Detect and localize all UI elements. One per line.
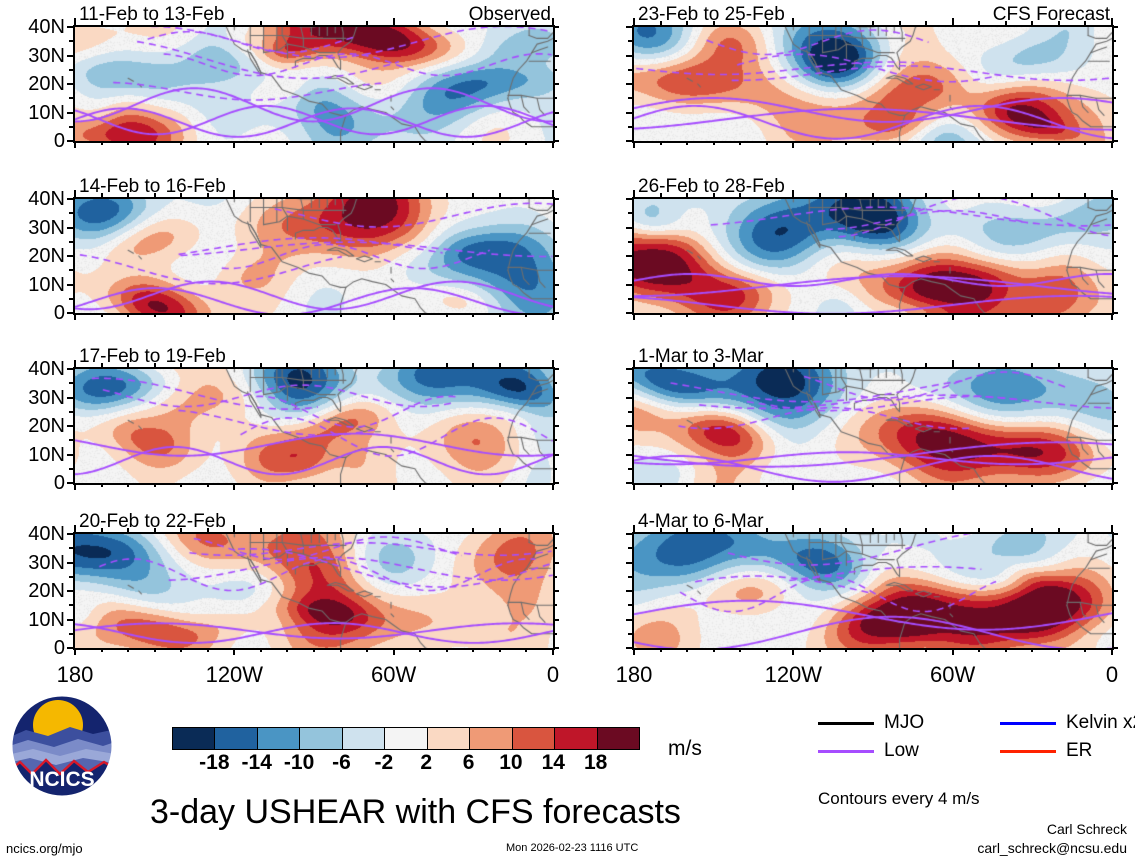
x-tick-mark [233,360,235,367]
x-minor-tick [260,193,262,197]
x-minor-tick [525,483,527,487]
y-minor-tick [628,468,632,470]
y-tick-label: 20N [0,581,65,601]
x-minor-tick [872,648,874,652]
x-tick-mark [1111,141,1113,148]
x-minor-tick [180,193,182,197]
y-minor-tick [69,604,73,606]
y-tick-mark [553,284,559,286]
x-tick-mark [792,313,794,320]
y-minor-tick [553,547,557,549]
x-minor-tick [446,193,448,197]
y-minor-tick [1112,576,1116,578]
y-minor-tick [69,298,73,300]
y-tick-mark [67,83,73,85]
legend-line-mjo [818,722,874,725]
x-minor-tick [446,313,448,317]
x-minor-tick [766,141,768,145]
y-tick-mark [1112,227,1118,229]
y-tick-mark [1112,83,1118,85]
site-url[interactable]: ncics.org/mjo [6,842,83,855]
y-minor-tick [69,40,73,42]
y-tick-mark [67,454,73,456]
y-tick-mark [1112,425,1118,427]
x-minor-tick [525,363,527,367]
x-tick-mark [393,190,395,197]
x-tick-mark [952,190,954,197]
y-minor-tick [69,241,73,243]
x-minor-tick [207,363,209,367]
y-minor-tick [553,382,557,384]
y-minor-tick [1112,126,1116,128]
map-canvas-1 [75,199,553,313]
x-minor-tick [899,313,901,317]
x-minor-tick [472,483,474,487]
x-minor-tick [207,141,209,145]
y-tick-mark [626,647,632,649]
x-minor-tick [1031,363,1033,367]
x-minor-tick [419,313,421,317]
map-panel-4 [632,25,1114,143]
x-minor-tick [101,141,103,145]
map-panel-2 [73,367,555,485]
colorbar-swatch-4 [343,728,385,749]
x-minor-tick [819,313,821,317]
y-tick-mark [626,482,632,484]
y-tick-mark [67,112,73,114]
y-minor-tick [69,126,73,128]
column-header-0: Observed [469,5,551,24]
x-minor-tick [340,141,342,145]
map-canvas-6 [634,369,1112,483]
y-tick-label: 30N [0,46,65,66]
y-minor-tick [1112,298,1116,300]
y-tick-mark [1112,112,1118,114]
x-minor-tick [180,648,182,652]
x-tick-mark [233,313,235,320]
y-tick-mark [626,533,632,535]
x-minor-tick [366,193,368,197]
y-tick-mark [553,562,559,564]
x-minor-tick [660,141,662,145]
y-tick-mark [553,112,559,114]
x-minor-tick [499,193,501,197]
colorbar-swatch-8 [513,728,555,749]
y-minor-tick [69,576,73,578]
legend-label-0: MJO [884,713,924,732]
x-minor-tick [472,648,474,652]
x-minor-tick [1058,648,1060,652]
colorbar-tick-label: -18 [199,752,229,773]
x-minor-tick [660,21,662,25]
colorbar-swatch-0 [173,728,215,749]
x-minor-tick [899,648,901,652]
x-minor-tick [472,21,474,25]
x-minor-tick [766,21,768,25]
x-tick-label: 180 [57,664,94,686]
x-minor-tick [180,313,182,317]
y-tick-mark [1112,619,1118,621]
x-minor-tick [260,313,262,317]
x-tick-mark [233,525,235,532]
x-minor-tick [766,483,768,487]
x-minor-tick [472,313,474,317]
y-tick-mark [553,55,559,57]
x-tick-label: 60W [371,664,416,686]
y-minor-tick [628,382,632,384]
y-minor-tick [69,411,73,413]
x-tick-mark [74,648,76,655]
y-minor-tick [553,97,557,99]
x-minor-tick [207,483,209,487]
x-minor-tick [446,483,448,487]
x-minor-tick [260,648,262,652]
y-tick-label: 0 [0,303,65,323]
x-minor-tick [1031,193,1033,197]
x-tick-mark [952,525,954,532]
x-tick-mark [552,18,554,25]
y-tick-mark [1112,26,1118,28]
y-minor-tick [628,241,632,243]
y-minor-tick [553,69,557,71]
panel-title-6: 1-Mar to 3-Mar [638,347,764,366]
y-minor-tick [69,97,73,99]
x-minor-tick [739,483,741,487]
y-tick-mark [1112,198,1118,200]
y-tick-mark [553,255,559,257]
x-tick-mark [74,190,76,197]
x-tick-mark [1111,483,1113,490]
y-tick-mark [553,26,559,28]
legend-label-3: ER [1066,741,1092,760]
y-minor-tick [628,547,632,549]
y-tick-mark [1112,284,1118,286]
x-minor-tick [313,528,315,532]
x-minor-tick [154,363,156,367]
x-minor-tick [713,313,715,317]
x-minor-tick [313,141,315,145]
x-tick-mark [792,483,794,490]
x-tick-label: 120W [206,664,263,686]
x-minor-tick [446,21,448,25]
x-minor-tick [1084,21,1086,25]
x-minor-tick [499,363,501,367]
x-minor-tick [925,193,927,197]
x-minor-tick [1084,528,1086,532]
y-minor-tick [553,298,557,300]
x-minor-tick [1058,141,1060,145]
x-tick-mark [233,141,235,148]
x-minor-tick [446,528,448,532]
x-minor-tick [286,193,288,197]
contour-interval-note: Contours every 4 m/s [818,790,980,807]
x-minor-tick [739,363,741,367]
y-minor-tick [69,468,73,470]
x-minor-tick [713,528,715,532]
y-minor-tick [69,439,73,441]
y-tick-mark [553,397,559,399]
y-tick-mark [626,312,632,314]
x-minor-tick [260,483,262,487]
x-minor-tick [154,648,156,652]
x-minor-tick [1005,648,1007,652]
y-tick-label: 40N [0,189,65,209]
x-minor-tick [419,648,421,652]
y-tick-mark [1112,55,1118,57]
x-tick-mark [633,313,635,320]
y-tick-mark [67,368,73,370]
x-minor-tick [101,648,103,652]
x-minor-tick [872,193,874,197]
x-minor-tick [340,528,342,532]
x-tick-mark [792,648,794,655]
y-tick-mark [1112,255,1118,257]
x-minor-tick [660,648,662,652]
x-minor-tick [340,193,342,197]
x-minor-tick [686,313,688,317]
x-tick-mark [952,483,954,490]
legend-line-er [1000,750,1056,753]
x-minor-tick [446,363,448,367]
y-tick-label: 10N [0,610,65,630]
x-tick-label: 120W [765,664,822,686]
x-minor-tick [366,313,368,317]
x-minor-tick [127,193,129,197]
y-minor-tick [1112,212,1116,214]
x-minor-tick [1005,21,1007,25]
x-minor-tick [446,648,448,652]
x-minor-tick [1058,193,1060,197]
y-minor-tick [553,212,557,214]
x-minor-tick [845,313,847,317]
x-minor-tick [101,528,103,532]
x-minor-tick [925,483,927,487]
y-tick-mark [67,647,73,649]
y-minor-tick [553,633,557,635]
x-minor-tick [313,363,315,367]
x-minor-tick [286,648,288,652]
x-minor-tick [1058,313,1060,317]
y-minor-tick [628,40,632,42]
x-minor-tick [1058,483,1060,487]
x-tick-mark [633,360,635,367]
x-minor-tick [925,21,927,25]
y-tick-mark [626,83,632,85]
x-minor-tick [766,648,768,652]
colorbar-swatch-5 [385,728,427,749]
y-tick-mark [626,397,632,399]
x-minor-tick [899,483,901,487]
colorbar-swatch-2 [258,728,300,749]
y-tick-mark [553,198,559,200]
y-tick-label: 10N [0,275,65,295]
x-tick-mark [1111,313,1113,320]
x-tick-mark [792,360,794,367]
y-tick-mark [67,482,73,484]
x-minor-tick [180,363,182,367]
x-minor-tick [978,21,980,25]
y-tick-mark [1112,562,1118,564]
x-minor-tick [313,21,315,25]
y-tick-label: 10N [0,445,65,465]
y-tick-mark [626,55,632,57]
x-tick-mark [1111,190,1113,197]
y-tick-mark [626,368,632,370]
author-email[interactable]: carl_schreck@ncsu.edu [977,841,1127,855]
x-minor-tick [154,141,156,145]
x-tick-mark [633,483,635,490]
map-panel-5 [632,197,1114,315]
x-tick-mark [393,313,395,320]
y-tick-mark [1112,590,1118,592]
x-minor-tick [286,21,288,25]
y-tick-mark [67,533,73,535]
x-minor-tick [180,141,182,145]
x-minor-tick [419,21,421,25]
y-tick-mark [553,227,559,229]
x-tick-mark [633,525,635,532]
x-tick-mark [552,360,554,367]
x-minor-tick [819,21,821,25]
x-minor-tick [978,141,980,145]
map-panel-7 [632,532,1114,650]
x-minor-tick [419,528,421,532]
x-minor-tick [127,483,129,487]
x-minor-tick [154,313,156,317]
timestamp: Mon 2026-02-23 1116 UTC [506,843,638,854]
map-canvas-4 [634,27,1112,141]
x-minor-tick [499,21,501,25]
x-minor-tick [286,528,288,532]
x-minor-tick [872,141,874,145]
x-minor-tick [686,21,688,25]
y-minor-tick [553,604,557,606]
x-minor-tick [180,528,182,532]
x-minor-tick [525,141,527,145]
y-tick-mark [626,619,632,621]
y-tick-mark [553,533,559,535]
x-tick-mark [74,18,76,25]
x-minor-tick [872,483,874,487]
x-minor-tick [1005,483,1007,487]
x-minor-tick [419,483,421,487]
x-tick-label: 0 [1106,664,1118,686]
x-minor-tick [713,21,715,25]
x-minor-tick [713,648,715,652]
x-minor-tick [1031,141,1033,145]
x-minor-tick [1058,528,1060,532]
x-minor-tick [340,648,342,652]
y-tick-mark [67,312,73,314]
x-minor-tick [686,528,688,532]
y-tick-mark [1112,368,1118,370]
x-minor-tick [127,141,129,145]
x-minor-tick [499,528,501,532]
x-minor-tick [819,528,821,532]
legend-line-low [818,750,874,753]
x-minor-tick [366,363,368,367]
x-minor-tick [1058,21,1060,25]
x-minor-tick [472,141,474,145]
x-minor-tick [925,528,927,532]
x-minor-tick [525,21,527,25]
x-tick-mark [74,313,76,320]
y-tick-label: 30N [0,388,65,408]
x-minor-tick [101,313,103,317]
x-tick-mark [1111,525,1113,532]
x-minor-tick [739,21,741,25]
x-minor-tick [127,21,129,25]
x-minor-tick [686,193,688,197]
y-minor-tick [628,411,632,413]
main-title: 3-day USHEAR with CFS forecasts [150,795,681,829]
x-minor-tick [1005,313,1007,317]
y-minor-tick [553,269,557,271]
y-minor-tick [69,547,73,549]
x-minor-tick [154,483,156,487]
x-minor-tick [286,141,288,145]
x-tick-mark [74,360,76,367]
y-minor-tick [69,212,73,214]
y-tick-label: 30N [0,553,65,573]
x-minor-tick [899,193,901,197]
y-tick-mark [553,83,559,85]
logo-text: NCICS [29,768,94,791]
map-canvas-2 [75,369,553,483]
x-tick-mark [1111,648,1113,655]
y-minor-tick [1112,411,1116,413]
x-minor-tick [739,193,741,197]
colorbar-tick-label: -2 [374,752,393,773]
colorbar-tick-label: 10 [499,752,522,773]
x-tick-mark [393,525,395,532]
y-tick-label: 40N [0,359,65,379]
x-tick-mark [393,648,395,655]
y-minor-tick [553,126,557,128]
x-minor-tick [340,363,342,367]
x-tick-mark [792,190,794,197]
x-minor-tick [499,483,501,487]
x-minor-tick [1031,483,1033,487]
x-tick-mark [633,190,635,197]
colorbar-tick-label: 2 [420,752,432,773]
x-minor-tick [1005,528,1007,532]
y-tick-mark [67,425,73,427]
x-minor-tick [499,141,501,145]
y-minor-tick [553,40,557,42]
x-minor-tick [127,648,129,652]
x-minor-tick [499,648,501,652]
y-minor-tick [553,411,557,413]
x-minor-tick [525,528,527,532]
y-minor-tick [628,298,632,300]
x-minor-tick [286,363,288,367]
y-tick-mark [626,590,632,592]
y-tick-mark [67,284,73,286]
x-tick-mark [233,648,235,655]
x-minor-tick [313,193,315,197]
legend-label-2: Low [884,741,919,760]
x-minor-tick [819,193,821,197]
x-minor-tick [899,363,901,367]
x-minor-tick [1005,193,1007,197]
y-tick-mark [67,227,73,229]
y-minor-tick [69,269,73,271]
x-minor-tick [260,21,262,25]
x-tick-mark [633,648,635,655]
x-minor-tick [260,141,262,145]
x-tick-mark [393,483,395,490]
